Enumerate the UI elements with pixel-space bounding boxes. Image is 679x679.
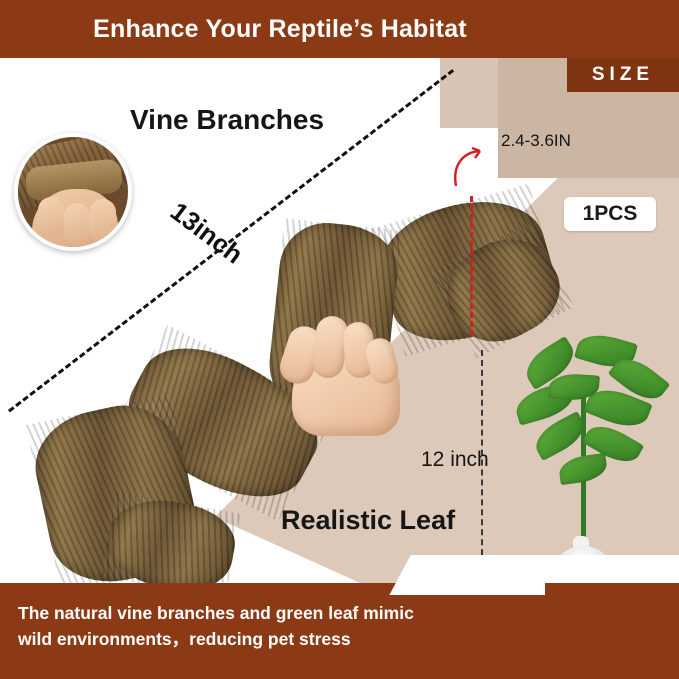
footer-right-block (545, 583, 679, 679)
footer-text-line2: wild environments，reducing pet stress (18, 626, 538, 652)
hand-holding-branch (270, 316, 402, 436)
label-vine-branches: Vine Branches (130, 104, 324, 136)
page-title: Enhance Your Reptile’s Habitat (0, 0, 560, 58)
footer-text-line1: The natural vine branches and green leaf… (18, 600, 538, 626)
dashed-measure-line-thickness (470, 196, 473, 336)
curved-arrow-icon (448, 146, 488, 190)
size-strip-label: SIZE (592, 64, 654, 86)
footer-text: The natural vine branches and green leaf… (18, 600, 538, 652)
label-realistic-leaf: Realistic Leaf (281, 505, 455, 536)
size-strip: SIZE (567, 58, 679, 92)
badge-quantity: 1PCS (564, 197, 656, 231)
leaf (557, 453, 608, 485)
label-leaf-length: 12 inch (421, 448, 489, 472)
product-infographic: Enhance Your Reptile’s Habitat SIZE (0, 0, 679, 679)
label-thickness: 2.4-3.6IN (501, 131, 571, 151)
header-banner-right (560, 0, 679, 58)
